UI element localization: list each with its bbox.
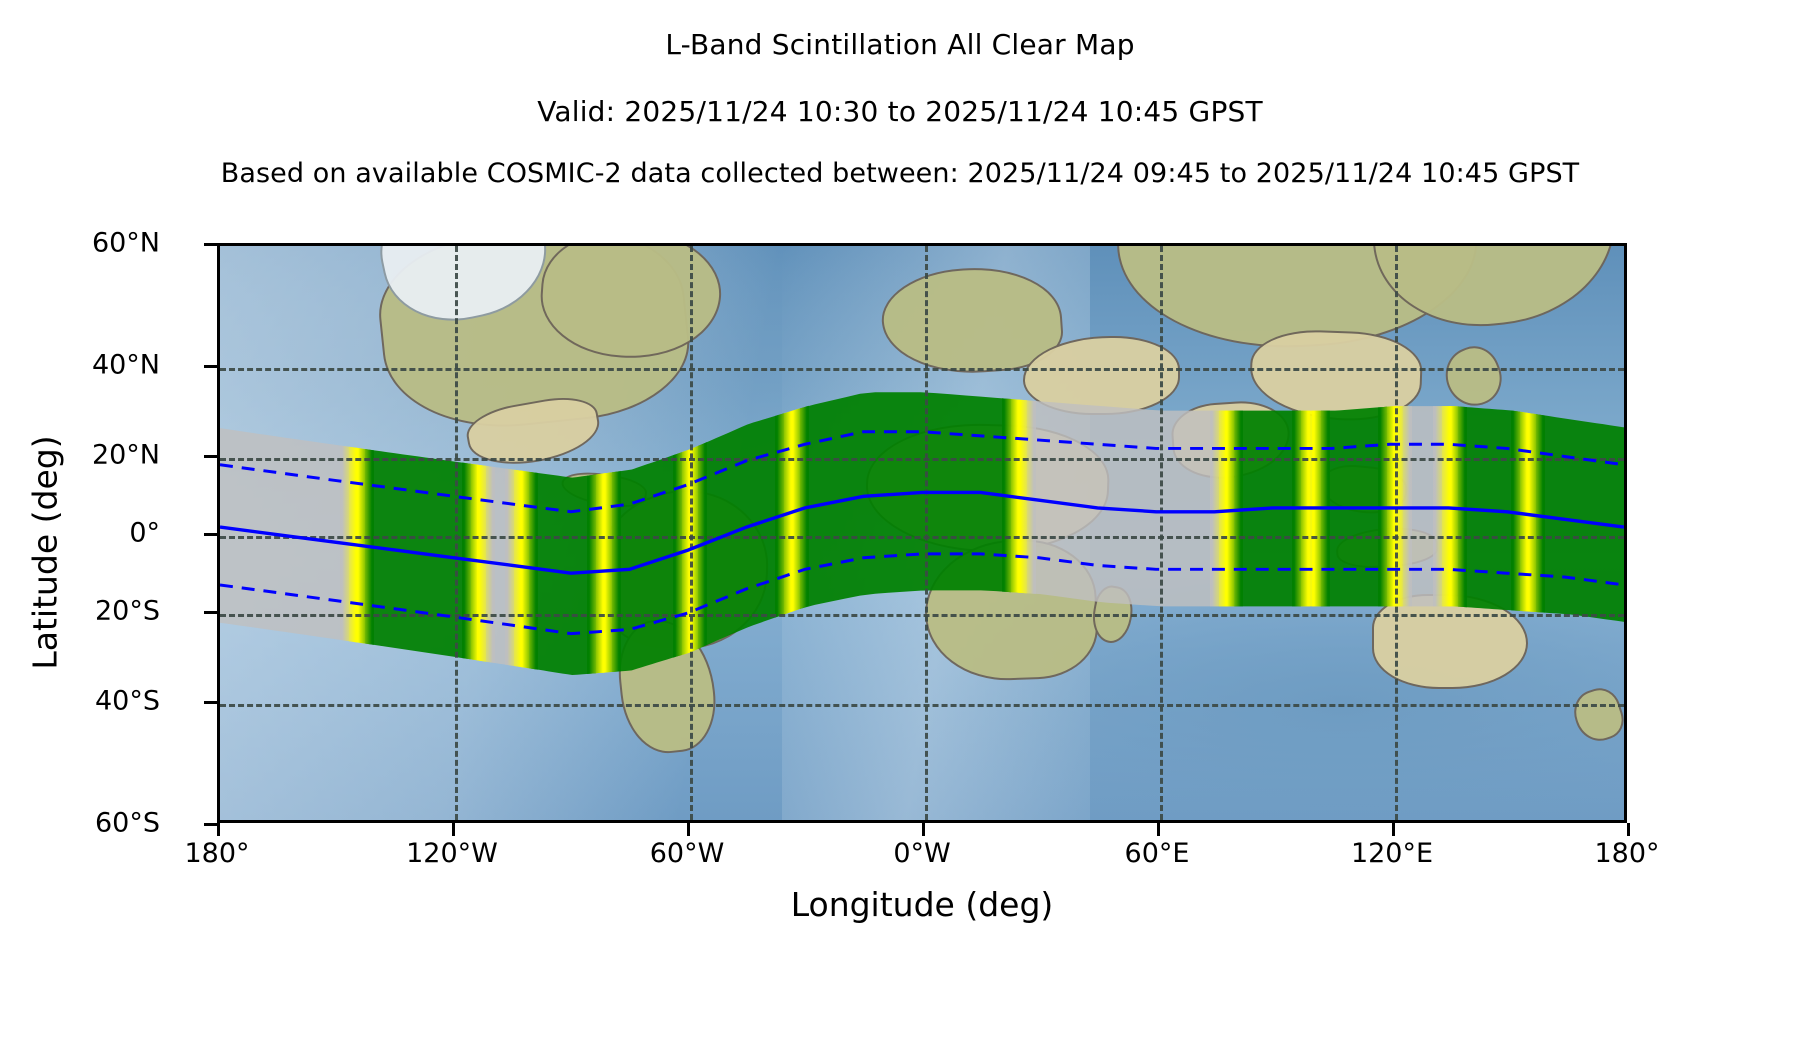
coverage-gradient-edge bbox=[1527, 246, 1545, 820]
coverage-gradient-edge bbox=[1312, 246, 1330, 820]
y-tick-mark bbox=[204, 533, 217, 536]
coverage-segment-probably-clear bbox=[1458, 246, 1521, 820]
data-source-caption: Based on available COSMIC-2 data collect… bbox=[0, 158, 1800, 189]
y-tick-mark bbox=[204, 243, 217, 246]
y-tick-mark bbox=[204, 701, 217, 704]
x-tick-mark bbox=[687, 823, 690, 836]
x-tick-label: 120°E bbox=[1292, 838, 1492, 869]
x-tick-mark bbox=[1627, 823, 1630, 836]
gridline-longitude bbox=[455, 246, 458, 820]
coverage-segment-probably-clear bbox=[1234, 246, 1301, 820]
coverage-gradient-edge bbox=[520, 246, 538, 820]
coverage-gradient-edge bbox=[1225, 246, 1243, 820]
coverage-segment-probably-clear bbox=[1536, 246, 1624, 820]
coverage-gradient-edge bbox=[603, 246, 621, 820]
coverage-segment-probably-clear bbox=[698, 246, 784, 820]
gridline-latitude bbox=[220, 536, 1624, 539]
x-tick-label: 60°W bbox=[587, 838, 787, 869]
x-tick-mark bbox=[1157, 823, 1160, 836]
coverage-gradient-edge bbox=[477, 246, 495, 820]
gridline-longitude bbox=[690, 246, 693, 820]
y-tick-label: 40°S bbox=[0, 685, 160, 716]
gridline-latitude bbox=[220, 368, 1624, 371]
gridline-latitude bbox=[220, 704, 1624, 707]
coverage-gradient-edge bbox=[1018, 246, 1036, 820]
y-tick-mark bbox=[204, 365, 217, 368]
coverage-segment-probably-clear bbox=[800, 246, 1012, 820]
coverage-gradient-edge bbox=[791, 246, 809, 820]
coverage-segment-no-specification bbox=[1027, 246, 1219, 820]
scintillation-band-layer bbox=[220, 246, 1624, 820]
y-tick-label: 60°S bbox=[0, 808, 160, 839]
y-tick-label: 40°N bbox=[0, 350, 160, 381]
coverage-segment-probably-clear bbox=[1321, 246, 1388, 820]
x-tick-mark bbox=[452, 823, 455, 836]
validity-subtitle: Valid: 2025/11/24 10:30 to 2025/11/24 10… bbox=[0, 95, 1800, 128]
gridline-latitude bbox=[220, 614, 1624, 617]
y-tick-mark bbox=[204, 823, 217, 826]
gridline-longitude bbox=[1160, 246, 1163, 820]
page-title: L-Band Scintillation All Clear Map bbox=[0, 28, 1800, 61]
gridline-longitude bbox=[925, 246, 928, 820]
map-plot-area: Map valid for 1500 MHz Probably Clear > … bbox=[217, 243, 1627, 823]
x-tick-label: 180° bbox=[117, 838, 317, 869]
coverage-gradient-edge bbox=[356, 246, 374, 820]
x-tick-label: 120°W bbox=[352, 838, 552, 869]
y-tick-mark bbox=[204, 611, 217, 614]
y-tick-label: 20°N bbox=[0, 439, 160, 470]
x-tick-mark bbox=[1392, 823, 1395, 836]
x-tick-label: 0°W bbox=[822, 838, 1022, 869]
gridline-latitude bbox=[220, 458, 1624, 461]
coverage-segment-probably-clear bbox=[529, 246, 596, 820]
map-canvas bbox=[220, 246, 1624, 820]
x-axis-label: Longitude (deg) bbox=[217, 885, 1627, 924]
coverage-segment-no-specification bbox=[220, 246, 349, 820]
coverage-segment-probably-clear bbox=[612, 246, 683, 820]
coverage-gradient-edge bbox=[1292, 246, 1310, 820]
y-tick-label: 20°S bbox=[0, 596, 160, 627]
x-tick-label: 60°E bbox=[1057, 838, 1257, 869]
x-tick-label: 180° bbox=[1527, 838, 1727, 869]
gridline-longitude bbox=[1395, 246, 1398, 820]
coverage-gradient-edge bbox=[1449, 246, 1467, 820]
y-axis-label: Latitude (deg) bbox=[26, 293, 65, 813]
y-tick-label: 0° bbox=[0, 518, 160, 549]
y-tick-label: 60°N bbox=[0, 228, 160, 259]
x-tick-mark bbox=[217, 823, 220, 836]
x-tick-mark bbox=[922, 823, 925, 836]
y-tick-mark bbox=[204, 455, 217, 458]
title-block: L-Band Scintillation All Clear Map Valid… bbox=[0, 0, 1800, 189]
